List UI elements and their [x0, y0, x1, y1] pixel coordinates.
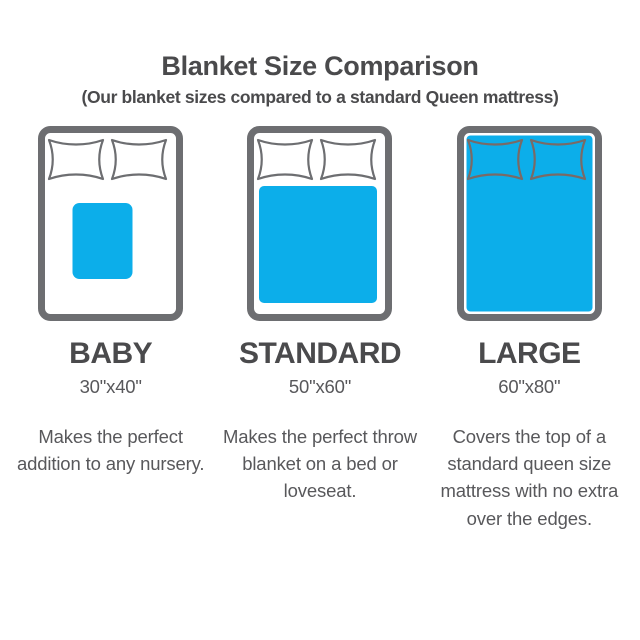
size-description-standard: Makes the perfect throw blanket on a bed…: [222, 423, 418, 505]
bed-diagram-large: [457, 126, 602, 321]
size-column-baby: BABY 30"x40" Makes the perfect addition …: [6, 126, 215, 477]
blanket-shape-large: [466, 136, 592, 312]
size-description-baby: Makes the perfect addition to any nurser…: [13, 423, 209, 478]
size-column-standard: STANDARD 50"x60" Makes the perfect throw…: [215, 126, 424, 505]
pillow-left-icon: [258, 140, 312, 179]
size-column-large: LARGE 60"x80" Covers the top of a standa…: [425, 126, 634, 532]
pillow-right-icon: [321, 140, 375, 179]
size-name-standard: STANDARD: [239, 339, 401, 369]
bed-diagram-baby: [38, 126, 183, 321]
page-subtitle: (Our blanket sizes compared to a standar…: [0, 87, 640, 108]
blanket-size-comparison-infographic: Blanket Size Comparison (Our blanket siz…: [0, 0, 640, 640]
size-dimensions-standard: 50"x60": [289, 378, 351, 397]
size-dimensions-large: 60"x80": [498, 378, 560, 397]
pillow-right-icon: [112, 140, 166, 179]
pillow-left-icon: [49, 140, 103, 179]
size-columns: BABY 30"x40" Makes the perfect addition …: [0, 126, 640, 532]
size-description-large: Covers the top of a standard queen size …: [431, 423, 627, 533]
bed-diagram-standard: [247, 126, 392, 321]
blanket-shape-standard: [259, 186, 377, 303]
size-name-baby: BABY: [69, 339, 152, 369]
size-name-large: LARGE: [478, 339, 581, 369]
size-dimensions-baby: 30"x40": [80, 378, 142, 397]
page-title: Blanket Size Comparison: [0, 52, 640, 81]
header: Blanket Size Comparison (Our blanket siz…: [0, 0, 640, 108]
blanket-shape-baby: [73, 203, 133, 279]
